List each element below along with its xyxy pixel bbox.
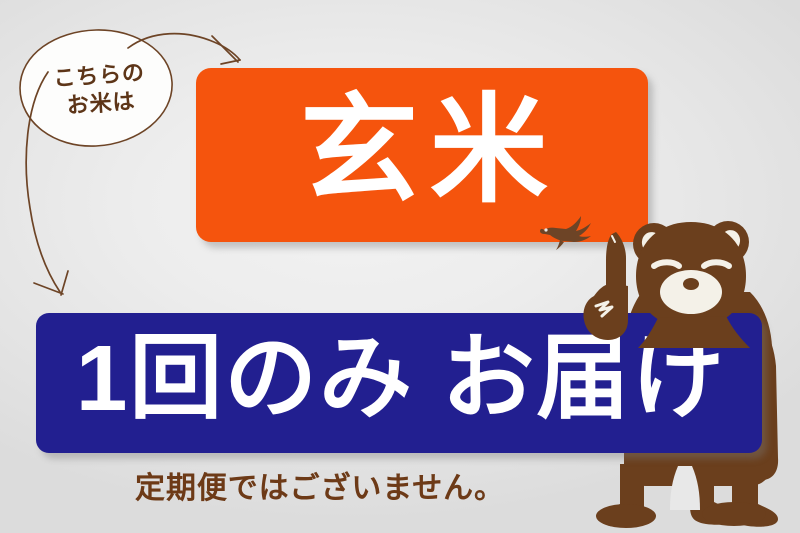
promo-banner-canvas: 玄米 1回のみ お届け (0, 0, 800, 533)
caption-text: 定期便ではございません。 (0, 463, 640, 507)
arrow-down-head-a (34, 283, 63, 294)
bird-icon (536, 208, 596, 252)
arrow-up-head-a (212, 36, 238, 62)
arrow-down-head-b (61, 271, 68, 295)
primary-banner-text: 玄米 (288, 92, 559, 210)
callout-bubble: こちらの お米は (16, 26, 176, 151)
arrow-up-head-b (221, 60, 240, 64)
callout-line-1: こちらの (53, 61, 146, 89)
secondary-banner-text: 1回のみ お届け (74, 332, 726, 425)
callout-text-group: こちらの お米は (16, 21, 184, 157)
secondary-banner: 1回のみ お届け (36, 313, 762, 453)
callout-line-2: お米は (66, 90, 136, 117)
